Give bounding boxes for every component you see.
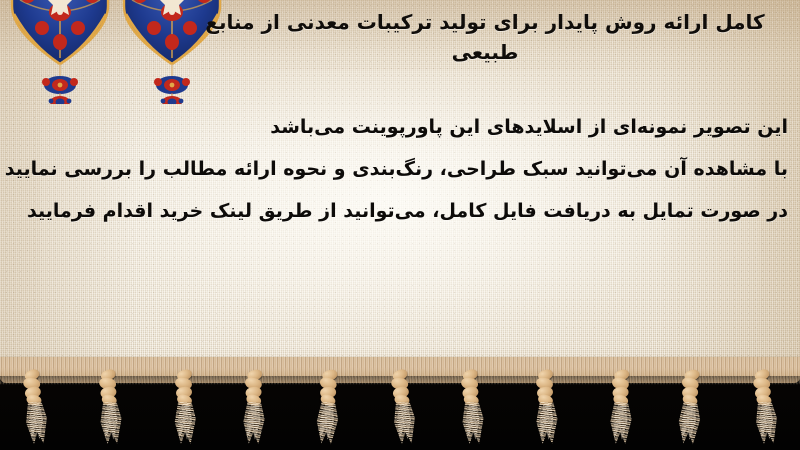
fringe-tassel bbox=[744, 367, 784, 447]
fringe-tassel bbox=[382, 367, 422, 447]
body-line-3: در صورت تمایل به دریافت فایل کامل، می‌تو… bbox=[8, 190, 788, 232]
fringe-tassel bbox=[307, 367, 347, 447]
fringe-tassel bbox=[91, 367, 128, 446]
carpet-fringe-tassels bbox=[0, 368, 800, 450]
fringe-tassel bbox=[528, 368, 562, 446]
body-line-1: این تصویر نمونه‌ای از اسلایدهای این پاور… bbox=[8, 106, 788, 148]
fringe-tassel bbox=[234, 367, 271, 446]
slide-title-line-2: طبیعی bbox=[188, 38, 782, 68]
slide-title-line-1: کامل ارائه روش پایدار برای تولید ترکیبات… bbox=[188, 8, 782, 38]
persian-carpet-medallion-left-icon bbox=[8, 0, 112, 108]
fringe-tassel bbox=[669, 367, 709, 447]
fringe-tassel bbox=[167, 368, 201, 446]
fringe-tassel bbox=[452, 367, 489, 446]
fringe-tassel bbox=[602, 367, 639, 446]
body-line-2: با مشاهده آن می‌توانید سبک طراحی، رنگ‌بن… bbox=[8, 148, 788, 190]
slide-title: کامل ارائه روش پایدار برای تولید ترکیبات… bbox=[188, 8, 782, 67]
presentation-slide: کامل ارائه روش پایدار برای تولید ترکیبات… bbox=[0, 0, 800, 450]
slide-body-text: این تصویر نمونه‌ای از اسلایدهای این پاور… bbox=[8, 106, 788, 232]
fringe-tassel bbox=[14, 367, 54, 447]
